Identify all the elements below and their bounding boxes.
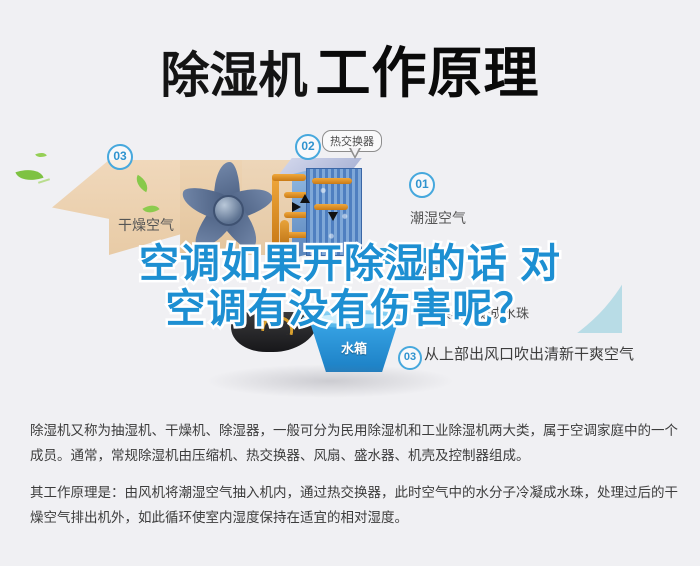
flow-arrow-icon	[300, 194, 310, 203]
diagram-stage: 水箱 03 02 01 03 热交换器 干燥空气 潮湿空气 潮湿 交换器冷凝成水…	[0, 120, 700, 410]
callout-pointer	[349, 148, 361, 159]
infographic-page: 除湿机工作原理	[0, 0, 700, 566]
page-title: 除湿机工作原理	[0, 28, 700, 108]
flow-arrow-icon	[292, 202, 301, 212]
body-text: 除湿机又称为抽湿机、干燥机、除湿器，一般可分为民用除湿机和工业除湿机两大类，属于…	[30, 418, 678, 542]
label-humid-air: 潮湿空气	[410, 208, 466, 228]
leaf-icon	[35, 150, 47, 160]
step-badge-02: 02	[295, 134, 321, 160]
body-paragraph-2: 其工作原理是：由风机将潮湿空气抽入机内，通过热交换器，此时空气中的水分子冷凝成水…	[30, 480, 678, 530]
step-badge-01: 01	[409, 172, 435, 198]
body-paragraph-1: 除湿机又称为抽湿机、干燥机、除湿器，一般可分为民用除湿机和工业除湿机两大类，属于…	[30, 418, 678, 468]
fan-hub	[213, 195, 244, 226]
caption-outlet-air: 从上部出风口吹出清新干爽空气	[424, 343, 634, 364]
footer-step-badge-03: 03	[398, 346, 422, 370]
step-badge-03: 03	[107, 144, 133, 170]
caption-condensation: 交换器冷凝成水珠	[425, 303, 529, 322]
water-tank-label: 水箱	[300, 338, 408, 357]
fan-icon	[172, 154, 282, 264]
title-part-a: 除湿机	[160, 49, 307, 103]
flow-arrow-icon	[328, 212, 338, 221]
heat-exchanger-icon	[270, 158, 380, 266]
leaf-stem	[38, 178, 50, 184]
label-dry-air: 干燥空气	[118, 215, 174, 235]
title-part-b: 工作原理	[316, 42, 540, 104]
label-humid-air-small: 潮湿	[415, 263, 439, 280]
water-tank-icon: 水箱	[300, 310, 408, 372]
unit-shadow	[205, 364, 455, 398]
